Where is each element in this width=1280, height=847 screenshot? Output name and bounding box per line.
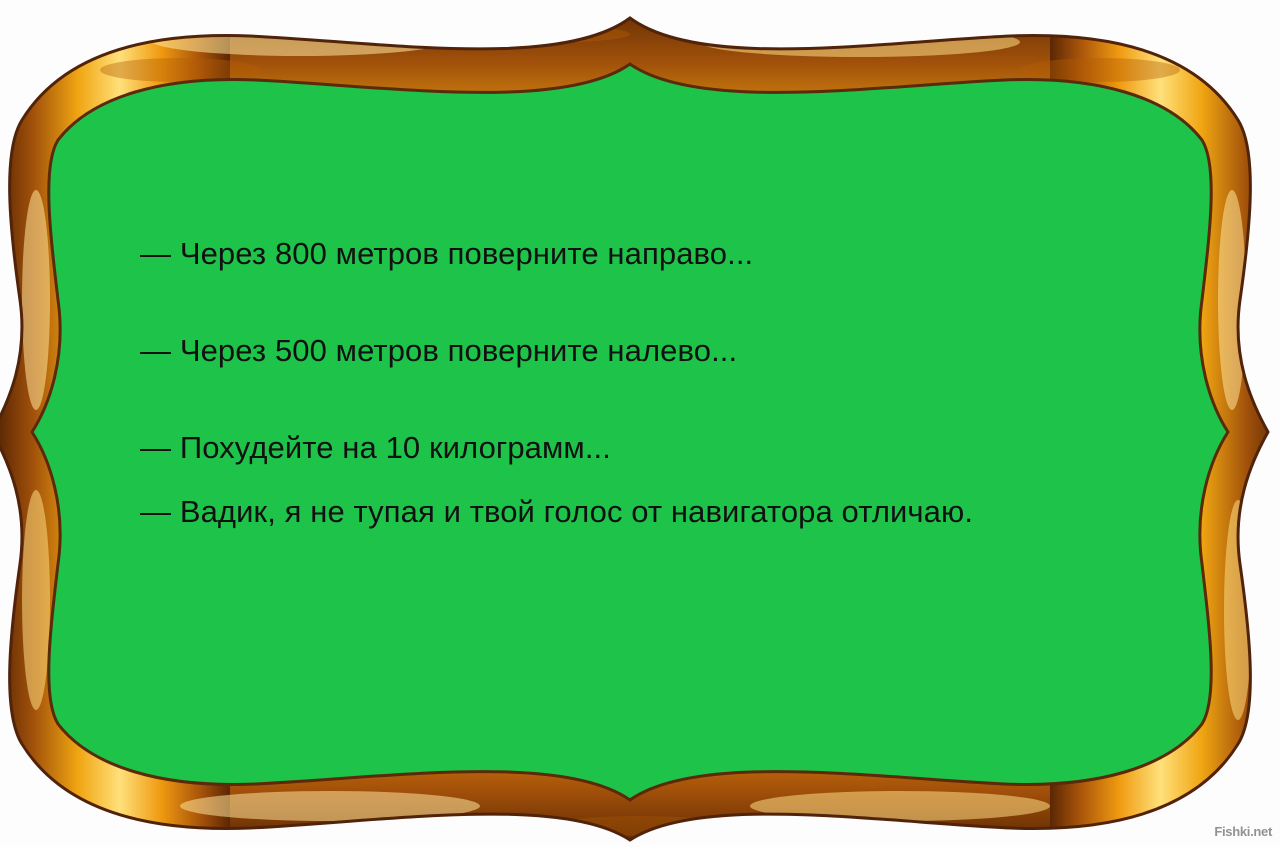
watermark-fishki: Fishki.net	[1214, 824, 1272, 839]
joke-line-3: — Похудейте на 10 килограмм...	[140, 399, 1150, 496]
joke-text-block: — Через 800 метров поверните направо... …	[140, 205, 1150, 527]
joke-line-1: — Через 800 метров поверните направо...	[140, 205, 1150, 302]
joke-line-4: — Вадик, я не тупая и твой голос от нави…	[140, 496, 1150, 527]
joke-card: — Через 800 метров поверните направо... …	[0, 0, 1280, 847]
joke-line-2: — Через 500 метров поверните налево...	[140, 302, 1150, 399]
